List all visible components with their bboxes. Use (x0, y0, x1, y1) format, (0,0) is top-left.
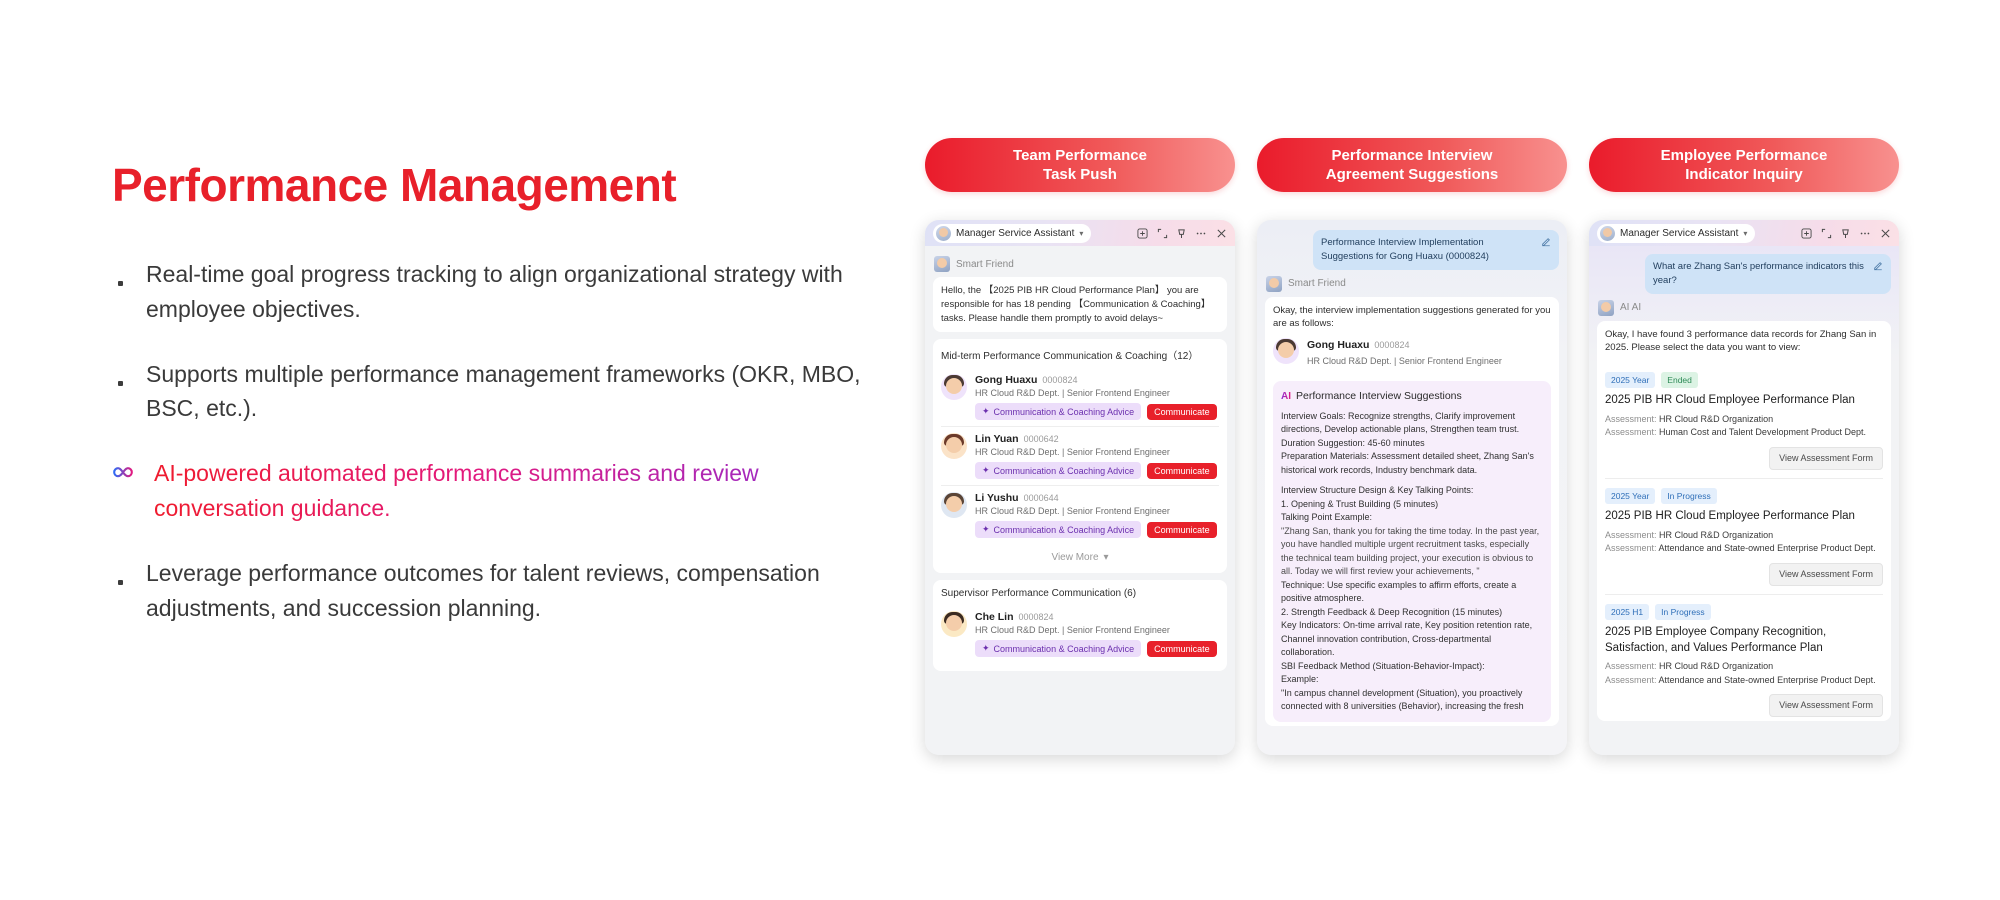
record-row: Assessment: HR Cloud R&D Organization (1605, 529, 1883, 543)
close-icon[interactable] (1216, 228, 1227, 239)
sparkle-icon: ✦ (982, 406, 990, 417)
chat-body-3: What are Zhang San's performance indicat… (1589, 246, 1899, 755)
user-message: Performance Interview Implementation Sug… (1313, 230, 1559, 270)
assistant-greeting: Okay, I have found 3 performance data re… (1605, 328, 1883, 356)
chevron-down-icon[interactable]: ▾ (1079, 229, 1083, 238)
avatar (941, 492, 967, 518)
record-row: Assessment: Attendance and State-owned E… (1605, 674, 1883, 688)
chat-body-2: Performance Interview Implementation Sug… (1257, 220, 1567, 755)
assistant-message: Okay, I have found 3 performance data re… (1597, 321, 1891, 722)
card-employee-performance-indicator: Employee Performance Indicator Inquiry M… (1589, 138, 1899, 755)
assistant-name: Manager Service Assistant (1620, 228, 1738, 239)
avatar (1598, 300, 1614, 316)
structure-talking-label: Talking Point Example: (1281, 511, 1543, 525)
record-row: Assessment: HR Cloud R&D Organization (1605, 660, 1883, 674)
status-badge: Ended (1661, 372, 1698, 388)
avatar (936, 226, 951, 241)
slide-root: Performance Management Real-time goal pr… (0, 0, 2000, 900)
card-header-pill-1: Team Performance Task Push (925, 138, 1235, 192)
assistant-chip[interactable]: Manager Service Assistant ▾ (1597, 224, 1755, 243)
pin-icon[interactable] (1177, 228, 1186, 239)
window-titlebar: Manager Service Assistant ▾ (1589, 220, 1899, 246)
task-panel-supervisor: Supervisor Performance Communication (6)… (933, 580, 1227, 671)
left-content: Performance Management Real-time goal pr… (112, 160, 872, 626)
chat-body-1: Smart Friend Hello, the 【2025 PIB HR Clo… (925, 246, 1235, 755)
view-assessment-form-button[interactable]: View Assessment Form (1769, 694, 1883, 717)
person-id: 0000824 (1374, 340, 1409, 350)
person-id: 0000824 (1042, 375, 1077, 385)
window-titlebar: Manager Service Assistant ▾ (925, 220, 1235, 246)
pill-line-1: Team Performance (1013, 146, 1147, 166)
sparkle-icon: ✦ (982, 465, 990, 476)
person-dept: HR Cloud R&D Dept. | Senior Frontend Eng… (975, 506, 1219, 516)
record-row: Assessment: Human Cost and Talent Develo… (1605, 426, 1883, 440)
phone-mock-2: Performance Interview Implementation Sug… (1257, 220, 1567, 755)
edit-icon[interactable] (1873, 261, 1883, 276)
task-panel-midterm: Mid-term Performance Communication & Coa… (933, 339, 1227, 573)
person-name: Gong Huaxu0000824 (975, 374, 1219, 386)
edit-icon[interactable] (1541, 237, 1551, 252)
message-sender: Smart Friend (934, 256, 1227, 272)
list-item: Li Yushu0000644 HR Cloud R&D Dept. | Sen… (941, 485, 1219, 544)
bullet-text: Real-time goal progress tracking to alig… (146, 257, 872, 327)
list-item: Lin Yuan0000642 HR Cloud R&D Dept. | Sen… (941, 426, 1219, 485)
person-dept: HR Cloud R&D Dept. | Senior Frontend Eng… (975, 625, 1219, 635)
technique-note: Technique: Use specific examples to affi… (1281, 579, 1543, 606)
talking-point-quote-1: "Zhang San, thank you for taking the tim… (1281, 525, 1543, 579)
assistant-message: Okay, the interview implementation sugge… (1265, 297, 1559, 726)
ai-badge: AI (1281, 390, 1291, 405)
communicate-button[interactable]: Communicate (1147, 641, 1217, 657)
example-label: Example: (1281, 673, 1543, 687)
list-item-ai: AI-powered automated performance summari… (112, 456, 872, 526)
person-name: Gong Huaxu0000824 (1307, 338, 1551, 353)
expand-icon[interactable] (1821, 228, 1832, 239)
message-sender: Smart Friend (1266, 276, 1559, 292)
period-tag: 2025 H1 (1605, 604, 1649, 620)
communicate-button[interactable]: Communicate (1147, 463, 1217, 479)
person-id: 0000644 (1024, 493, 1059, 503)
advice-chip[interactable]: ✦Communication & Coaching Advice (975, 403, 1141, 420)
phone-mock-3: Manager Service Assistant ▾ What (1589, 220, 1899, 755)
ai-suggestion-card: AI Performance Interview Suggestions Int… (1273, 381, 1551, 721)
card-header-pill-3: Employee Performance Indicator Inquiry (1589, 138, 1899, 192)
person-name: Che Lin0000824 (975, 611, 1219, 623)
panel-title: Supervisor Performance Communication (6) (941, 588, 1219, 599)
view-assessment-form-button[interactable]: View Assessment Form (1769, 563, 1883, 586)
advice-chip[interactable]: ✦Communication & Coaching Advice (975, 462, 1141, 479)
assistant-name: Manager Service Assistant (956, 228, 1074, 239)
suggestion-duration: Duration Suggestion: 45-60 minutes (1281, 437, 1543, 451)
sparkle-icon: ✦ (982, 524, 990, 535)
advice-chip[interactable]: ✦Communication & Coaching Advice (975, 521, 1141, 538)
record-title: 2025 PIB HR Cloud Employee Performance P… (1605, 393, 1883, 409)
panel-title: Mid-term Performance Communication & Coa… (941, 347, 1219, 362)
record-row: Assessment: Attendance and State-owned E… (1605, 542, 1883, 556)
status-badge: In Progress (1655, 604, 1710, 620)
list-item: Gong Huaxu0000824 HR Cloud R&D Dept. | S… (941, 368, 1219, 426)
user-message: What are Zhang San's performance indicat… (1645, 254, 1891, 294)
pill-line-2: Task Push (1043, 165, 1117, 185)
add-square-icon[interactable] (1137, 228, 1148, 239)
pill-line-1: Employee Performance (1661, 146, 1828, 166)
phone-mock-1: Manager Service Assistant ▾ Smart F (925, 220, 1235, 755)
avatar (1273, 338, 1299, 364)
more-icon[interactable] (1195, 228, 1207, 239)
advice-chip[interactable]: ✦Communication & Coaching Advice (975, 640, 1141, 657)
close-icon[interactable] (1880, 228, 1891, 239)
records-list: 2025 Year Ended 2025 PIB HR Cloud Employ… (1605, 362, 1883, 717)
person-dept: HR Cloud R&D Dept. | Senior Frontend Eng… (975, 447, 1219, 457)
avatar (1266, 276, 1282, 292)
suggestion-materials: Preparation Materials: Assessment detail… (1281, 450, 1543, 477)
ai-infinity-icon (112, 465, 136, 486)
sender-name: Smart Friend (1288, 278, 1346, 289)
pill-line-2: Indicator Inquiry (1685, 165, 1803, 185)
avatar (941, 374, 967, 400)
sender-name: AI AI (1620, 302, 1641, 313)
list-item: Gong Huaxu0000824 HR Cloud R&D Dept. | S… (1273, 331, 1551, 374)
assistant-chip[interactable]: Manager Service Assistant ▾ (933, 224, 1091, 243)
structure-step-1: 1. Opening & Trust Building (5 minutes) (1281, 498, 1543, 512)
communicate-button[interactable]: Communicate (1147, 404, 1217, 420)
pin-icon[interactable] (1841, 228, 1850, 239)
person-name: Lin Yuan0000642 (975, 433, 1219, 445)
dot-bullet-icon (112, 569, 128, 589)
sender-name: Smart Friend (956, 259, 1014, 270)
suggestion-title: Performance Interview Suggestions (1296, 389, 1462, 404)
assistant-message: Hello, the 【2025 PIB HR Cloud Performanc… (933, 277, 1227, 332)
talking-point-quote-2: "In campus channel development (Situatio… (1281, 687, 1543, 714)
bullet-text: Supports multiple performance management… (146, 357, 872, 427)
record-title: 2025 PIB HR Cloud Employee Performance P… (1605, 509, 1883, 525)
person-dept: HR Cloud R&D Dept. | Senior Frontend Eng… (975, 388, 1219, 398)
avatar (941, 433, 967, 459)
period-tag: 2025 Year (1605, 372, 1655, 388)
card-header-pill-2: Performance Interview Agreement Suggesti… (1257, 138, 1567, 192)
more-icon[interactable] (1859, 228, 1871, 239)
feature-bullet-list: Real-time goal progress tracking to alig… (112, 257, 872, 627)
assistant-greeting: Okay, the interview implementation sugge… (1273, 304, 1551, 332)
view-assessment-form-button[interactable]: View Assessment Form (1769, 447, 1883, 470)
structure-heading: Interview Structure Design & Key Talking… (1281, 484, 1543, 498)
avatar (941, 611, 967, 637)
screenshot-cards: Team Performance Task Push Manager Servi… (925, 138, 1899, 755)
avatar (934, 256, 950, 272)
list-item: 2025 Year In Progress 2025 PIB HR Cloud … (1605, 478, 1883, 586)
list-item: Real-time goal progress tracking to alig… (112, 257, 872, 327)
communicate-button[interactable]: Communicate (1147, 522, 1217, 538)
dot-bullet-icon (112, 270, 128, 290)
list-item: Supports multiple performance management… (112, 357, 872, 427)
list-item: Che Lin0000824 HR Cloud R&D Dept. | Seni… (941, 605, 1219, 663)
suggestion-goals: Interview Goals: Recognize strengths, Cl… (1281, 410, 1543, 437)
avatar (1600, 226, 1615, 241)
sbi-method: SBI Feedback Method (Situation-Behavior-… (1281, 660, 1543, 674)
person-dept: HR Cloud R&D Dept. | Senior Frontend Eng… (1307, 355, 1551, 368)
person-id: 0000642 (1024, 434, 1059, 444)
person-id: 0000824 (1019, 612, 1054, 622)
add-square-icon[interactable] (1801, 228, 1812, 239)
period-tag: 2025 Year (1605, 488, 1655, 504)
list-item: 2025 Year Ended 2025 PIB HR Cloud Employ… (1605, 364, 1883, 470)
pill-line-1: Performance Interview (1332, 146, 1493, 166)
record-title: 2025 PIB Employee Company Recognition, S… (1605, 625, 1883, 656)
bullet-text-ai: AI-powered automated performance summari… (154, 456, 872, 526)
chevron-down-icon[interactable]: ▾ (1743, 229, 1747, 238)
key-indicators: Key Indicators: On-time arrival rate, Ke… (1281, 619, 1543, 660)
record-row: Assessment: HR Cloud R&D Organization (1605, 413, 1883, 427)
view-more-button[interactable]: View More ▾ (941, 544, 1219, 565)
pill-line-2: Agreement Suggestions (1326, 165, 1499, 185)
suggestion-header: AI Performance Interview Suggestions (1281, 389, 1543, 404)
message-sender: AI AI (1598, 300, 1891, 316)
bullet-text: Leverage performance outcomes for talent… (146, 556, 872, 626)
structure-step-2: 2. Strength Feedback & Deep Recognition … (1281, 606, 1543, 620)
sparkle-icon: ✦ (982, 643, 990, 654)
status-badge: In Progress (1661, 488, 1716, 504)
list-item: 2025 H1 In Progress 2025 PIB Employee Co… (1605, 594, 1883, 717)
card-performance-interview-agreement: Performance Interview Agreement Suggesti… (1257, 138, 1567, 755)
page-title: Performance Management (112, 160, 872, 211)
dot-bullet-icon (112, 370, 128, 390)
person-name: Li Yushu0000644 (975, 492, 1219, 504)
list-item: Leverage performance outcomes for talent… (112, 556, 872, 626)
chevron-down-icon: ▾ (1104, 552, 1109, 563)
card-team-performance-task-push: Team Performance Task Push Manager Servi… (925, 138, 1235, 755)
expand-icon[interactable] (1157, 228, 1168, 239)
